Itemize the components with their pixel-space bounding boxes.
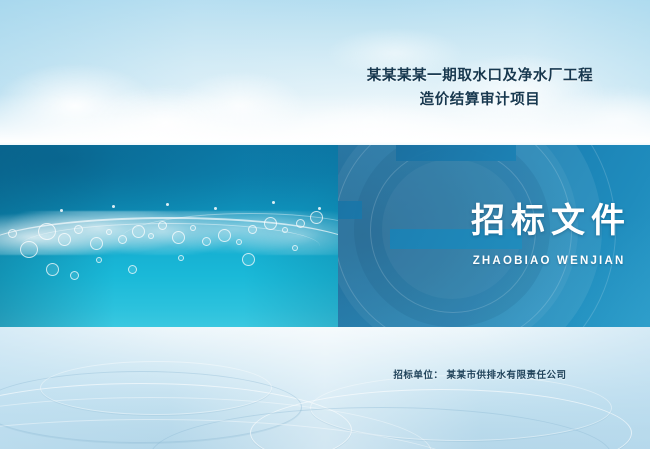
project-title-line-2: 造价结算审计项目 <box>330 88 630 112</box>
water-ripple <box>40 361 272 415</box>
water-bubble <box>248 225 257 234</box>
water-droplet <box>318 207 321 210</box>
main-title: 招标文件 <box>448 200 648 242</box>
water-bubble <box>118 235 127 244</box>
water-bubble <box>158 221 167 230</box>
water-bubble <box>178 255 184 261</box>
water-bubble <box>8 229 17 238</box>
water-droplet <box>112 205 115 208</box>
water-bubble <box>236 239 242 245</box>
tendering-unit-note: 招标单位： 某某市供排水有限责任公司 <box>330 367 630 381</box>
hero-band: 招标文件 ZHAOBIAO WENJIAN <box>0 145 650 327</box>
bottom-water-background: 招标单位： 某某市供排水有限责任公司 <box>0 327 650 449</box>
water-droplet <box>60 209 63 212</box>
water-droplet <box>214 207 217 210</box>
water-droplet <box>272 201 275 204</box>
water-bubble <box>106 229 112 235</box>
water-bubble <box>218 229 231 242</box>
project-title-line-1: 某某某某一期取水口及净水厂工程 <box>330 64 630 88</box>
water-bubble <box>202 237 211 246</box>
water-bubble <box>132 225 145 238</box>
water-bubble <box>310 211 323 224</box>
water-bubble <box>38 223 56 240</box>
water-droplet <box>166 203 169 206</box>
bid-document-cover: 某某某某一期取水口及净水厂工程 造价结算审计项目 <box>0 0 650 449</box>
water-bubble <box>58 233 71 246</box>
main-subtitle-pinyin: ZHAOBIAO WENJIAN <box>448 255 648 267</box>
water-bubble <box>148 233 154 239</box>
title-panel: 招标文件 ZHAOBIAO WENJIAN <box>338 145 650 327</box>
water-bubble <box>264 217 277 230</box>
water-bubble <box>96 257 102 263</box>
project-title: 某某某某一期取水口及净水厂工程 造价结算审计项目 <box>330 64 630 112</box>
water-bubble <box>74 225 83 234</box>
arc-gap <box>338 201 362 219</box>
water-bubble <box>128 265 137 274</box>
water-bubble <box>20 241 38 258</box>
water-bubble <box>190 225 196 231</box>
water-bubble <box>292 245 298 251</box>
water-bubble <box>242 253 255 266</box>
arc-gap <box>396 145 516 161</box>
water-photo-panel <box>0 145 338 327</box>
water-bubble <box>282 227 288 233</box>
water-bubble <box>90 237 103 250</box>
water-bubble <box>46 263 59 276</box>
water-bubble <box>70 271 79 280</box>
water-bubble <box>172 231 185 244</box>
water-bubble <box>296 219 305 228</box>
